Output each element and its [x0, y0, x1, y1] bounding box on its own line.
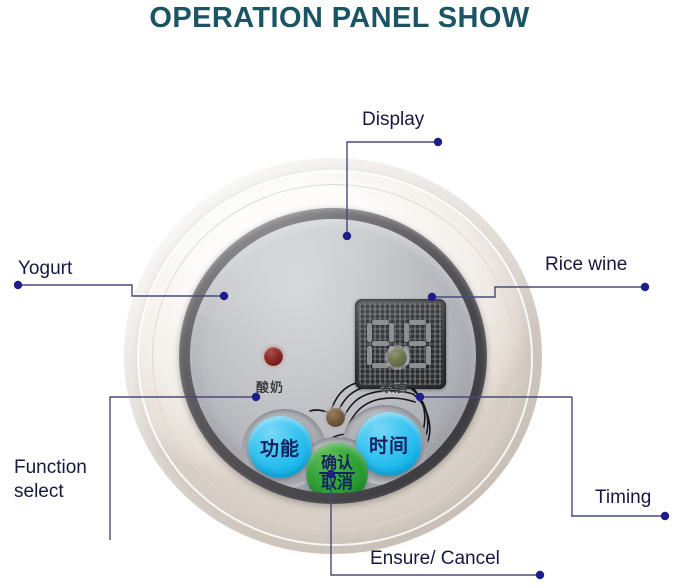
page-title: OPERATION PANEL SHOW — [0, 2, 679, 35]
rice-cooker-control-panel: 酸奶 米酒 纳豆 功能 时间 确认 取消 — [124, 158, 542, 554]
function-button-label: 功能 — [260, 434, 300, 461]
leader-dot-yogurt-label — [14, 281, 22, 289]
rice-wine-cn-label: 米酒 — [380, 377, 408, 396]
yogurt-cn-label: 酸奶 — [256, 377, 284, 396]
leader-dot-ensure-label — [536, 571, 544, 579]
callout-label-yogurt: Yogurt — [18, 258, 72, 280]
yogurt-indicator-led — [264, 347, 283, 366]
operation-panel-show-page: OPERATION PANEL SHOW — [0, 0, 679, 588]
callout-label-timing: Timing — [595, 487, 651, 509]
leader-dot-timing-label — [661, 512, 669, 520]
callout-label-rice-wine: Rice wine — [545, 254, 627, 276]
lcd-digit-2 — [404, 320, 431, 368]
callout-label-function-select-line2: select — [14, 480, 87, 504]
timing-button-label: 时间 — [369, 431, 409, 458]
leader-dot-display-label — [434, 138, 442, 146]
lcd-display — [355, 299, 446, 389]
callout-label-display: Display — [362, 109, 424, 131]
lcd-screen — [359, 303, 442, 385]
function-button[interactable]: 功能 — [248, 416, 312, 478]
callout-label-ensure-cancel: Ensure/ Cancel — [370, 548, 500, 570]
panel-faceplate: 酸奶 米酒 纳豆 功能 时间 确认 取消 — [190, 219, 476, 493]
rice-wine-indicator-led — [388, 348, 407, 367]
cancel-button-label: 取消 — [321, 475, 353, 491]
leader-dot-rice-wine-label — [641, 283, 649, 291]
ensure-button-label: 确认 — [321, 455, 353, 471]
callout-label-function-select-line1: Function — [14, 456, 87, 480]
callout-label-function-select: Function select — [14, 456, 87, 504]
